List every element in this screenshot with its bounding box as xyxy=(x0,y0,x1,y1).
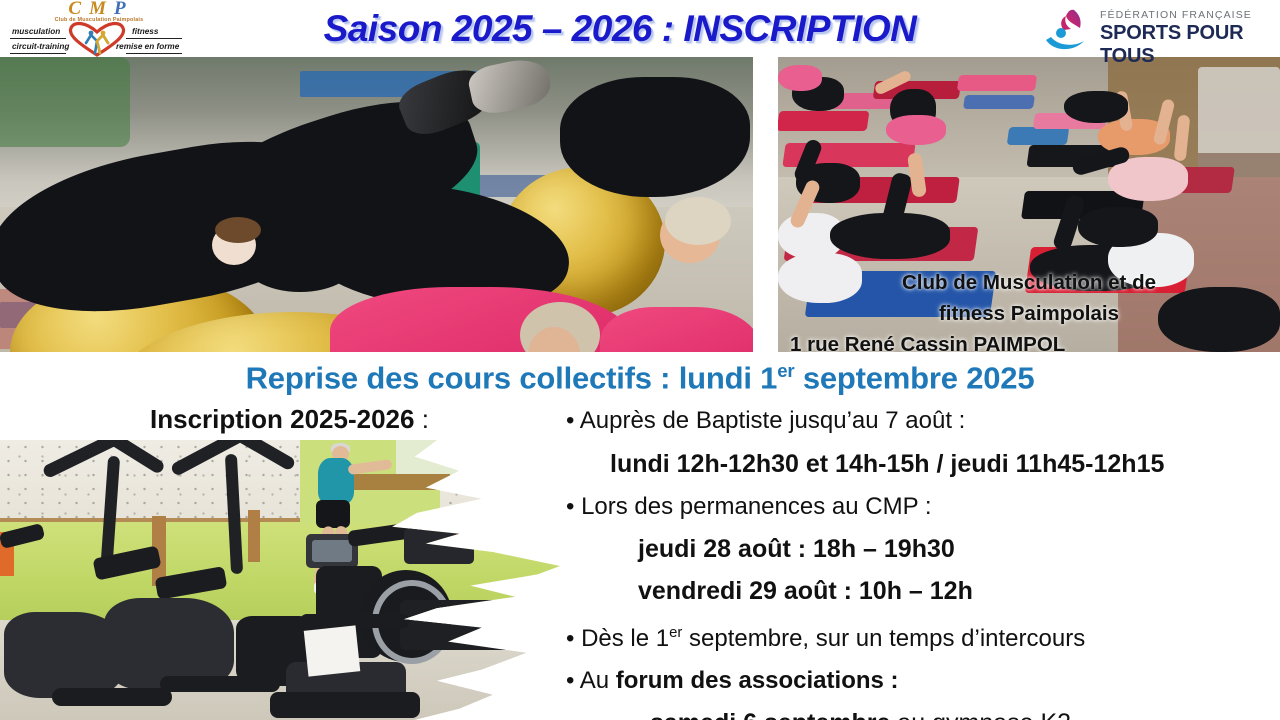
club-logo-heart-icon xyxy=(64,19,130,57)
club-logo-rule-2 xyxy=(10,53,66,54)
list-item: • Au forum des associations : xyxy=(566,660,1280,702)
inscription-details-list: • Auprès de Baptiste jusqu’au 7 août : l… xyxy=(566,400,1280,720)
bullet-marker: • xyxy=(566,625,574,652)
federation-line-2: SPORTS POUR TOUS xyxy=(1100,22,1276,68)
headline-suffix: septembre 2025 xyxy=(794,360,1034,395)
list-item-detail: vendredi 29 août : 10h – 12h xyxy=(566,570,1280,612)
photo-address-overlay: Club de Musculation et de fitness Paimpo… xyxy=(778,267,1280,352)
forum-venue: au gymnase K2 xyxy=(890,709,1071,720)
federation-figure-icon xyxy=(1044,8,1092,52)
headline-reprise-cours: Reprise des cours collectifs : lundi 1er… xyxy=(0,360,1280,396)
bullet-ordinal-sup: er xyxy=(669,625,682,641)
bullet-text-baptiste: Auprès de Baptiste jusqu’au 7 août : xyxy=(580,407,966,434)
club-logo-word-musculation: musculation xyxy=(12,27,60,36)
inscription-label-text: Inscription 2025-2026 xyxy=(150,404,414,434)
club-logo-word-fitness: fitness xyxy=(132,27,158,36)
bullet-text-intercours-prefix: Dès le 1 xyxy=(581,625,669,652)
inscription-label-colon: : xyxy=(414,404,428,434)
list-item-detail: lundi 12h-12h30 et 14h-15h / jeudi 11h45… xyxy=(566,442,1280,486)
bullet-text-permanences: Lors des permanences au CMP : xyxy=(581,493,931,520)
bullet-marker: • xyxy=(566,407,574,434)
photo-floor-class: Club de Musculation et de fitness Paimpo… xyxy=(778,57,1280,352)
list-item: • Lors des permanences au CMP : xyxy=(566,486,1280,528)
club-logo-rule-1 xyxy=(10,38,66,39)
bullet-text-forum-lead: Au xyxy=(580,667,616,694)
club-logo: CMP Club de Musculation Paimpolais muscu… xyxy=(6,1,182,57)
overlay-line-2: fitness Paimpolais xyxy=(778,298,1280,329)
list-item-detail: samedi 6 septembre au gymnase K2 xyxy=(566,702,1280,720)
club-logo-word-remise-en-forme: remise en forme xyxy=(116,42,179,51)
poster-header: CMP Club de Musculation Paimpolais muscu… xyxy=(0,0,1280,57)
bullet-marker: • xyxy=(566,493,574,520)
overlay-line-3: 1 rue René Cassin PAIMPOL xyxy=(778,329,1280,352)
headline-ordinal-sup: er xyxy=(777,360,794,381)
bullet-text-intercours-suffix: septembre, sur un temps d’intercours xyxy=(682,625,1085,652)
federation-logo: FÉDÉRATION FRANÇAISE SPORTS POUR TOUS xyxy=(1038,4,1278,54)
federation-line-1: FÉDÉRATION FRANÇAISE xyxy=(1100,9,1276,21)
photo-cardio-room xyxy=(0,440,560,720)
photo-pilates-balls xyxy=(0,57,753,352)
club-logo-word-circuit-training: circuit-training xyxy=(12,42,69,51)
headline-prefix: Reprise des cours collectifs : lundi 1 xyxy=(246,360,778,395)
club-logo-rule-4 xyxy=(126,53,182,54)
overlay-line-1: Club de Musculation et de xyxy=(778,267,1280,298)
federation-logo-text: FÉDÉRATION FRANÇAISE SPORTS POUR TOUS xyxy=(1100,9,1276,68)
inscription-label: Inscription 2025-2026 : xyxy=(150,404,429,435)
list-item: • Auprès de Baptiste jusqu’au 7 août : xyxy=(566,400,1280,442)
club-logo-rule-3 xyxy=(126,38,182,39)
poster-page: CMP Club de Musculation Paimpolais muscu… xyxy=(0,0,1280,720)
bullet-text-forum-bold: forum des associations : xyxy=(616,667,899,694)
list-item: • Dès le 1er septembre, sur un temps d’i… xyxy=(566,612,1280,660)
bullet-marker: • xyxy=(566,667,574,694)
forum-date: samedi 6 septembre xyxy=(650,709,890,720)
page-title: Saison 2025 – 2026 : INSCRIPTION xyxy=(200,4,1040,54)
list-item-detail: jeudi 28 août : 18h – 19h30 xyxy=(566,528,1280,570)
